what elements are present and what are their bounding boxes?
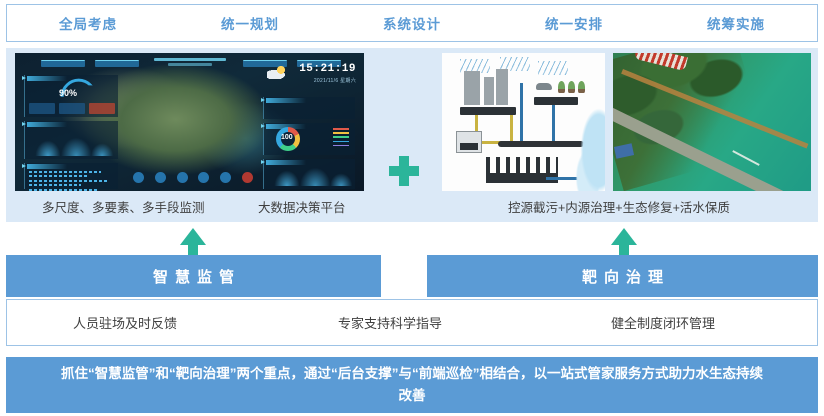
toolbar-icon-2 — [155, 172, 166, 183]
tree-icon — [578, 81, 585, 93]
gauge-value: 90% — [59, 88, 77, 98]
summary-banner-text: 抓住“智慧监管”和“靶向治理”两个重点，通过“后台支撑”与“前端巡检”相结合，以… — [58, 363, 766, 407]
area-chart — [268, 160, 354, 186]
tree-icon — [558, 81, 565, 93]
building-shape — [464, 71, 480, 105]
summary-banner: 抓住“智慧监管”和“靶向治理”两个重点，通过“后台支撑”与“前端巡检”相结合，以… — [6, 357, 818, 413]
arrow-head — [180, 228, 206, 245]
section-title-label: 靶向治理 — [575, 266, 670, 287]
score-value: 100 — [281, 134, 293, 141]
gauge-stat-3 — [89, 103, 115, 114]
caption-treatment: 控源截污+内源治理+生态修复+活水保质 — [508, 197, 730, 216]
media-panel: 90% 15:21:19 2021/11/6 星期六 — [6, 48, 818, 222]
measure-onsite-feedback: 人员驻场及时反馈 — [73, 313, 177, 332]
river-aerial-photo — [613, 53, 811, 191]
caption-monitoring: 多尺度、多要素、多手段监测 — [42, 197, 205, 216]
diagram-canvas — [442, 53, 605, 191]
caption-bigdata: 大数据决策平台 — [258, 197, 346, 216]
measure-closed-loop-management: 健全制度闭环管理 — [611, 313, 715, 332]
toolbar-icon-4 — [198, 172, 209, 183]
dashboard-nav-2 — [95, 60, 139, 67]
supporting-measures-row: 人员驻场及时反馈 专家支持科学指导 健全制度闭环管理 — [6, 299, 818, 346]
toolbar-icon-3 — [177, 172, 188, 183]
card-header-bar — [27, 76, 67, 81]
river-shape — [563, 101, 605, 191]
up-arrow-icon-right — [611, 228, 637, 258]
building-shape — [484, 77, 494, 105]
card-header-bar — [266, 98, 306, 103]
photo-canvas — [613, 53, 811, 191]
dashboard-nav-1 — [41, 60, 85, 67]
car-icon — [536, 83, 552, 90]
gauge-stat-1 — [29, 103, 55, 114]
diagram-label-residential — [460, 107, 516, 115]
dashboard-screenshot: 90% 15:21:19 2021/11/6 星期六 — [15, 53, 364, 191]
dashboard-card-timeseries — [263, 159, 355, 189]
up-arrow-icon-left — [180, 228, 206, 258]
section-title-smart-supervision: 智慧监管 — [6, 255, 381, 297]
arrow-head — [611, 228, 637, 245]
section-title-label: 智慧监管 — [146, 266, 241, 287]
toolbar-icon-5 — [220, 172, 231, 183]
building-shape — [496, 69, 508, 105]
dashboard-card-gauge: 90% — [24, 75, 118, 117]
plus-icon — [389, 156, 419, 186]
dashboard-date: 2021/11/6 星期六 — [314, 77, 356, 84]
dashboard-bottom-toolbar — [133, 172, 253, 183]
header-step-1: 全局考虑 — [7, 13, 169, 33]
gauge-stat-2 — [59, 103, 85, 114]
sewage-process-diagram — [442, 53, 605, 191]
card-header-bar — [27, 164, 67, 169]
rainwater-pipe — [552, 105, 555, 141]
card-header-bar — [27, 122, 67, 127]
dashboard-card-region — [263, 97, 355, 119]
header-step-5: 统筹实施 — [655, 13, 817, 33]
rain-icon — [538, 61, 568, 75]
section-title-targeted-treatment: 靶向治理 — [427, 255, 818, 297]
process-header-bar: 全局考虑 统一规划 系统设计 统一安排 统筹实施 — [6, 4, 818, 42]
infographic-root: 全局考虑 统一规划 系统设计 统一安排 统筹实施 90% — [0, 0, 824, 416]
area-chart — [29, 130, 115, 156]
toolbar-icon-6 — [242, 172, 253, 183]
dashboard-card-ranking — [24, 163, 118, 189]
header-step-2: 统一规划 — [169, 13, 331, 33]
measure-expert-guidance: 专家支持科学指导 — [338, 313, 442, 332]
dashboard-card-trend — [24, 121, 118, 159]
bar-list-chart — [29, 171, 115, 191]
sewage-pipe — [510, 115, 513, 143]
pump-station-icon — [456, 131, 482, 153]
header-step-4: 统一安排 — [493, 13, 655, 33]
dashboard-clock: 15:21:19 — [299, 63, 356, 75]
rainwater-pipe — [520, 83, 523, 141]
dashboard-title — [145, 58, 235, 68]
weather-icon — [267, 65, 287, 79]
header-step-3: 系统设计 — [331, 13, 493, 33]
tree-icon — [568, 81, 575, 93]
donut-legend — [333, 128, 349, 149]
toolbar-icon-1 — [133, 172, 144, 183]
dashboard-card-score: 100 — [263, 123, 355, 155]
